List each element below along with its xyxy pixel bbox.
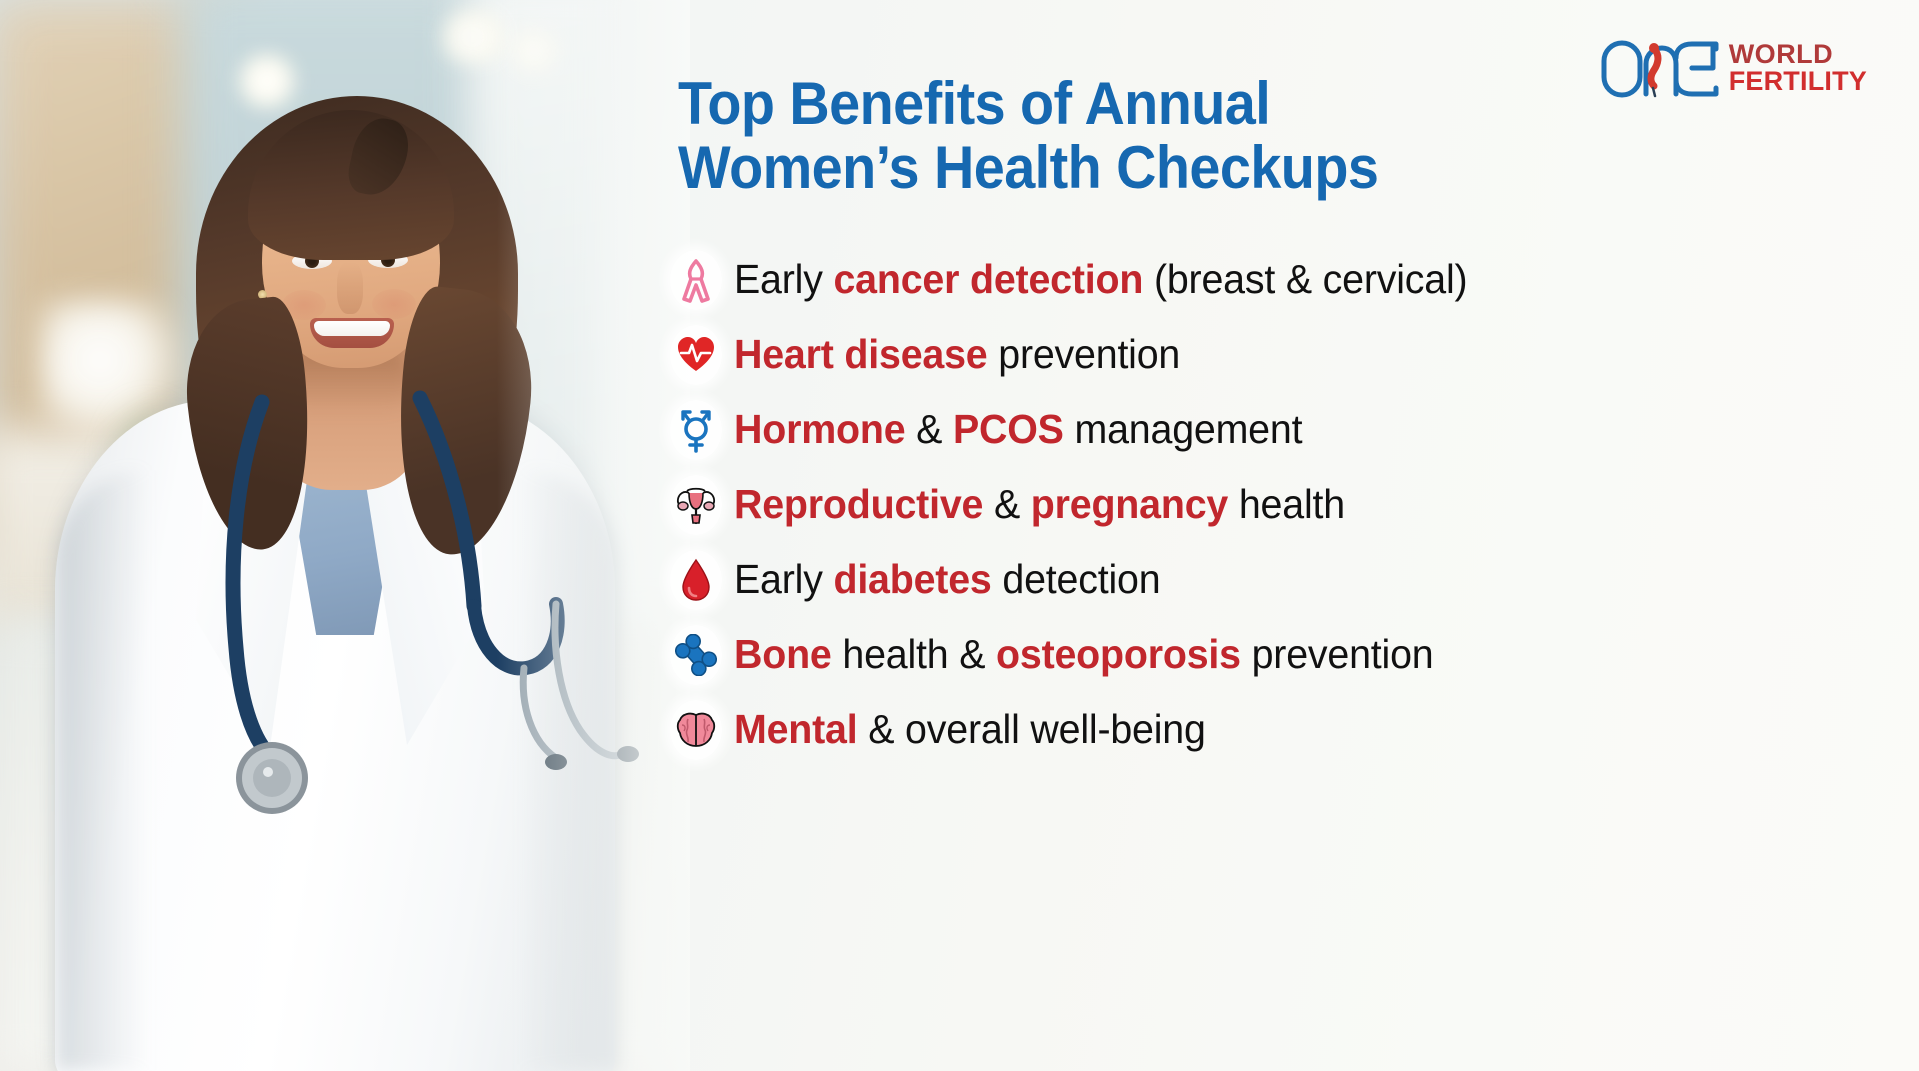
list-item: Bone health & osteoporosis prevention (670, 619, 1919, 691)
list-item: Early cancer detection (breast & cervica… (670, 244, 1919, 316)
list-item-label: Mental & overall well-being (734, 708, 1206, 751)
brand-logo[interactable]: WORLD FERTILITY (1600, 36, 1867, 100)
logo-word-fertility: FERTILITY (1729, 68, 1867, 95)
one-monogram-icon (1600, 36, 1726, 100)
poster-canvas: WORLD FERTILITY Top Benefits of Annual W… (0, 0, 1919, 1071)
brain-icon (670, 700, 722, 760)
list-item-label: Early cancer detection (breast & cervica… (734, 258, 1467, 301)
bone-icon (670, 625, 722, 685)
list-item: Mental & overall well-being (670, 694, 1919, 766)
heart-pulse-icon (670, 325, 722, 385)
title-line-2: Women’s Health Checkups (678, 136, 1431, 200)
list-item: Hormone & PCOS management (670, 394, 1919, 466)
photo-edge-fade (0, 0, 690, 1071)
pink-ribbon-icon (670, 250, 722, 310)
list-item: Heart disease prevention (670, 319, 1919, 391)
benefits-list: Early cancer detection (breast & cervica… (670, 244, 1919, 769)
list-item-label: Early diabetes detection (734, 558, 1160, 601)
list-item-label: Reproductive & pregnancy health (734, 483, 1345, 526)
blood-drop-icon (670, 550, 722, 610)
list-item-label: Hormone & PCOS management (734, 408, 1302, 451)
title-line-1: Top Benefits of Annual (678, 70, 1270, 137)
list-item-label: Bone health & osteoporosis prevention (734, 633, 1433, 676)
list-item: Reproductive & pregnancy health (670, 469, 1919, 541)
page-title: Top Benefits of Annual Women’s Health Ch… (678, 72, 1431, 200)
list-item-label: Heart disease prevention (734, 333, 1180, 376)
uterus-icon (670, 475, 722, 535)
gender-symbol-icon (670, 400, 722, 460)
doctor-photo (0, 0, 690, 1071)
list-item: Early diabetes detection (670, 544, 1919, 616)
content-panel: WORLD FERTILITY Top Benefits of Annual W… (660, 0, 1919, 1071)
logo-word-world: WORLD (1729, 41, 1867, 68)
